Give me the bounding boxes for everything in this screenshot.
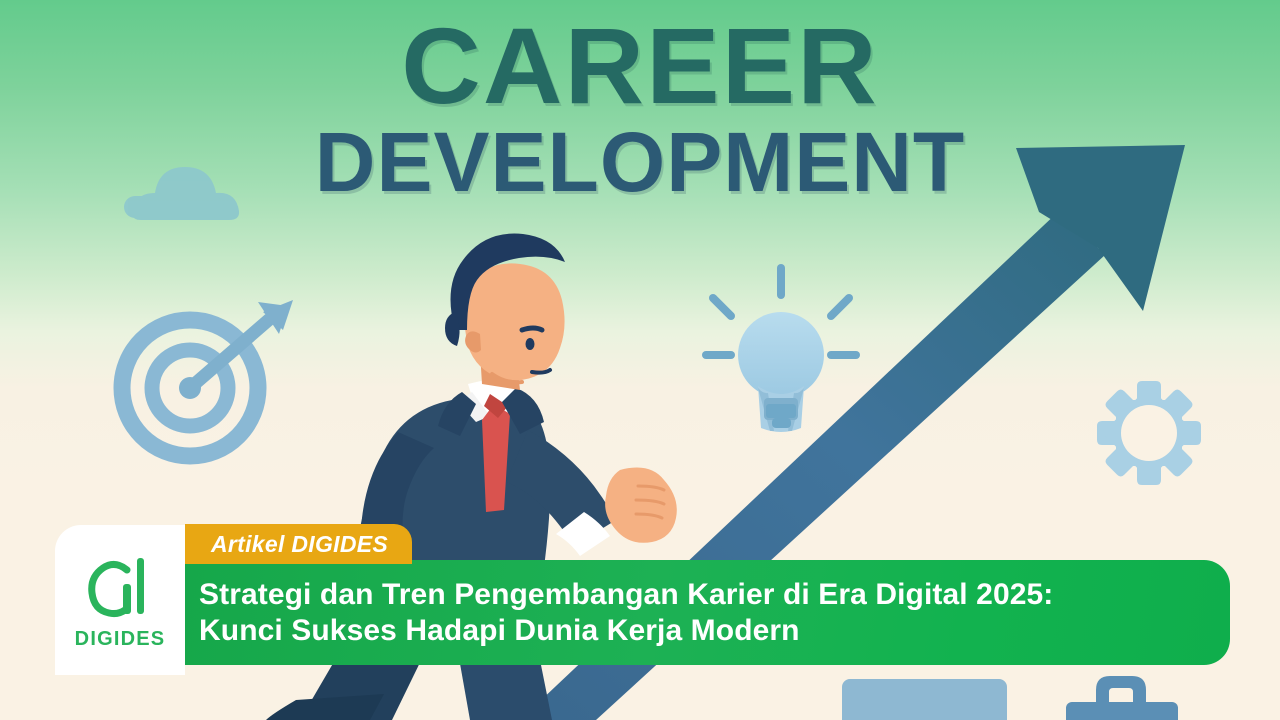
target-icon — [122, 300, 293, 456]
document-panel-icon — [842, 679, 1007, 720]
article-title-line-1: Strategi dan Tren Pengembangan Karier di… — [199, 577, 1230, 612]
brand-logo-text: DIGIDES — [75, 628, 166, 651]
gear-icon — [1075, 359, 1222, 506]
lightbulb-icon — [706, 268, 856, 432]
article-title-line-2: Kunci Sukses Hadapi Dunia Kerja Modern — [199, 613, 1230, 648]
cloud-icon — [124, 167, 239, 220]
article-title-band: Strategi dan Tren Pengembangan Karier di… — [185, 560, 1230, 665]
poster-canvas: CAREER DEVELOPMENT — [0, 0, 1280, 720]
brand-logo-card: DIGIDES — [55, 525, 185, 675]
article-badge-label: Artikel DIGIDES — [211, 531, 388, 558]
article-badge: Artikel DIGIDES — [185, 524, 412, 564]
digides-logo-icon — [87, 550, 153, 622]
briefcase-icon — [1066, 676, 1178, 720]
